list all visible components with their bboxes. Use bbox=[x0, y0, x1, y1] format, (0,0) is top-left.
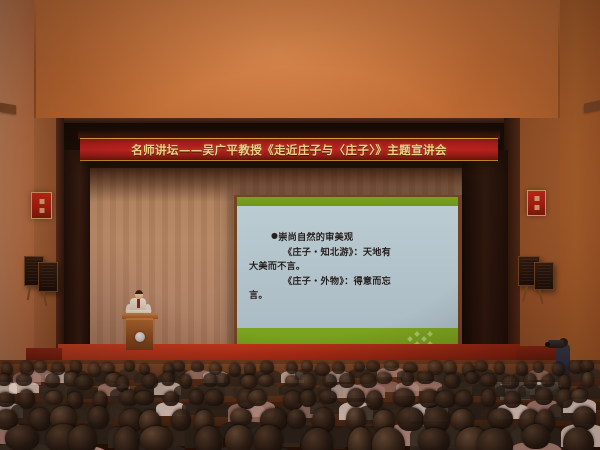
slide-line: 大美而不言。 bbox=[249, 260, 448, 275]
slide-line: 《庄子・知北游》：天地有 bbox=[249, 246, 448, 261]
audience-member-head bbox=[533, 362, 544, 373]
audience-member-head bbox=[88, 363, 101, 377]
audience-member-head bbox=[45, 373, 59, 388]
audience-member-head bbox=[301, 361, 313, 372]
wall-sign-right bbox=[527, 190, 546, 216]
projection-screen: ●崇尚自然的审美观 《庄子・知北游》：天地有 大美而不言。 《庄子・外物》：得意… bbox=[237, 197, 458, 350]
slide-line: ●崇尚自然的审美观 bbox=[249, 228, 448, 246]
audience-member-head bbox=[480, 374, 497, 387]
event-banner: 名师讲坛——吴广平教授《走近庄子与〈庄子〉》主题宣讲会 bbox=[80, 138, 498, 161]
proscenium-frame-left bbox=[56, 118, 64, 364]
audience-member-head bbox=[417, 372, 435, 383]
slide-body: ●崇尚自然的审美观 《庄子・知北游》：天地有 大美而不言。 《庄子・外物》：得意… bbox=[237, 206, 458, 328]
audience-member-head bbox=[401, 372, 413, 386]
audience-member-head bbox=[189, 390, 205, 405]
audience-member-head bbox=[172, 361, 184, 371]
audience-member-head bbox=[360, 374, 377, 389]
audience-member-head bbox=[161, 372, 175, 386]
audience-member-head bbox=[287, 409, 306, 430]
audience-member-head bbox=[88, 406, 108, 429]
audience-member-head bbox=[0, 374, 11, 386]
wall-speaker-right-b-icon bbox=[534, 262, 554, 290]
audience-member-head bbox=[535, 388, 553, 405]
audience-member-head bbox=[354, 362, 365, 372]
stage-curtain-right bbox=[462, 150, 508, 358]
audience-member-head bbox=[34, 361, 47, 373]
audience-member-head bbox=[299, 374, 316, 391]
audience-member-head bbox=[475, 361, 488, 372]
audience-member-head bbox=[522, 424, 550, 449]
audience-member-head bbox=[571, 389, 588, 404]
audience-member-head bbox=[45, 391, 63, 406]
audience-area bbox=[0, 360, 600, 450]
audience-member-head bbox=[488, 408, 513, 429]
audience-member-head bbox=[260, 361, 274, 374]
audience-member-head bbox=[195, 426, 222, 450]
audience-member-head bbox=[397, 407, 424, 431]
audience-member-head bbox=[339, 373, 356, 388]
event-banner-text: 名师讲坛——吴广平教授《走近庄子与〈庄子〉》主题宣讲会 bbox=[131, 142, 447, 158]
audience-member-head bbox=[75, 375, 93, 390]
audience-member-head bbox=[524, 373, 537, 389]
audience-member-head bbox=[552, 363, 566, 376]
wall-speaker-left-b-icon bbox=[38, 262, 58, 292]
audience-member-head bbox=[384, 361, 399, 371]
audience-member-head bbox=[134, 391, 155, 406]
audience-member-head bbox=[366, 361, 380, 372]
audience-member-head bbox=[180, 374, 192, 389]
audience-member-head bbox=[142, 374, 158, 388]
lecturer-head bbox=[135, 290, 143, 299]
audience-member-head bbox=[366, 390, 383, 410]
wall-sign-left bbox=[31, 192, 52, 219]
audience-member-head bbox=[300, 390, 316, 407]
slide-line-text: 崇尚自然的审美观 bbox=[278, 232, 353, 243]
audience-member-head bbox=[18, 389, 35, 409]
audience-member-head bbox=[323, 374, 337, 388]
audience-member-head bbox=[254, 425, 283, 450]
podium-emblem-icon bbox=[135, 332, 145, 342]
audience-member-head bbox=[504, 392, 521, 408]
auditorium-scene: 名师讲坛——吴广平教授《走近庄子与〈庄子〉》主题宣讲会 ●崇尚自然的审美观 《庄… bbox=[0, 0, 600, 450]
audience-member-head bbox=[5, 425, 39, 450]
audience-member-head bbox=[124, 361, 135, 372]
audience-member-head bbox=[481, 389, 496, 407]
slide-band-top bbox=[237, 197, 458, 206]
audience-member-head bbox=[140, 426, 173, 450]
audience-member-head bbox=[191, 362, 204, 372]
audience-member-head bbox=[455, 391, 472, 407]
audience-member-head bbox=[215, 373, 230, 387]
audience-member-head bbox=[285, 375, 299, 387]
camera-lens-icon bbox=[545, 342, 550, 347]
audience-member-head bbox=[204, 390, 223, 406]
audience-member-head bbox=[241, 375, 257, 388]
lecturer-tie bbox=[137, 299, 140, 308]
slide-line: 《庄子・外物》：得意而忘 bbox=[249, 275, 448, 290]
podium bbox=[126, 318, 153, 350]
audience-member-head bbox=[332, 362, 345, 374]
audience-member-head bbox=[347, 388, 365, 407]
proscenium-frame-top bbox=[58, 118, 520, 123]
audience-member-head bbox=[580, 360, 594, 372]
audience-member-head bbox=[444, 374, 460, 389]
audience-member-head bbox=[171, 409, 191, 432]
audience-member-head bbox=[494, 362, 505, 375]
video-camera-icon bbox=[548, 340, 564, 348]
stage-curtain-left bbox=[64, 150, 90, 358]
audience-member-head bbox=[16, 374, 32, 385]
audience-member-head bbox=[229, 363, 241, 377]
audience-member-head bbox=[225, 425, 253, 450]
audience-member-head bbox=[163, 391, 179, 406]
audience-member-head bbox=[393, 388, 414, 407]
audience-member-head bbox=[319, 390, 338, 404]
audience-member-head bbox=[443, 361, 457, 375]
audience-member-head bbox=[502, 376, 518, 389]
audience-member-head bbox=[541, 375, 554, 387]
audience-member-head bbox=[248, 390, 266, 406]
wall-panel-left bbox=[0, 0, 34, 360]
audience-member-head bbox=[435, 391, 456, 408]
slide-line: 言。 bbox=[249, 289, 448, 304]
audience-member-head bbox=[230, 408, 252, 426]
audience-member-head bbox=[465, 372, 479, 384]
audience-member-head bbox=[376, 372, 392, 384]
audience-member-head bbox=[0, 392, 15, 408]
wall-panel-right bbox=[560, 0, 600, 360]
